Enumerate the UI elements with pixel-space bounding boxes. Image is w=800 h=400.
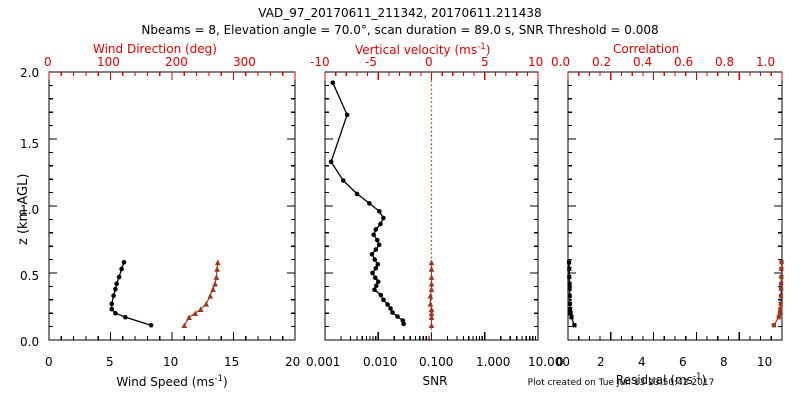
plot-svg bbox=[0, 0, 800, 400]
panel-frames bbox=[49, 72, 782, 340]
panel-ticks bbox=[49, 72, 782, 340]
data-series-layer bbox=[109, 72, 783, 340]
plot-canvas: VAD_97_20170611_211342, 20170611.211438 … bbox=[0, 0, 800, 400]
